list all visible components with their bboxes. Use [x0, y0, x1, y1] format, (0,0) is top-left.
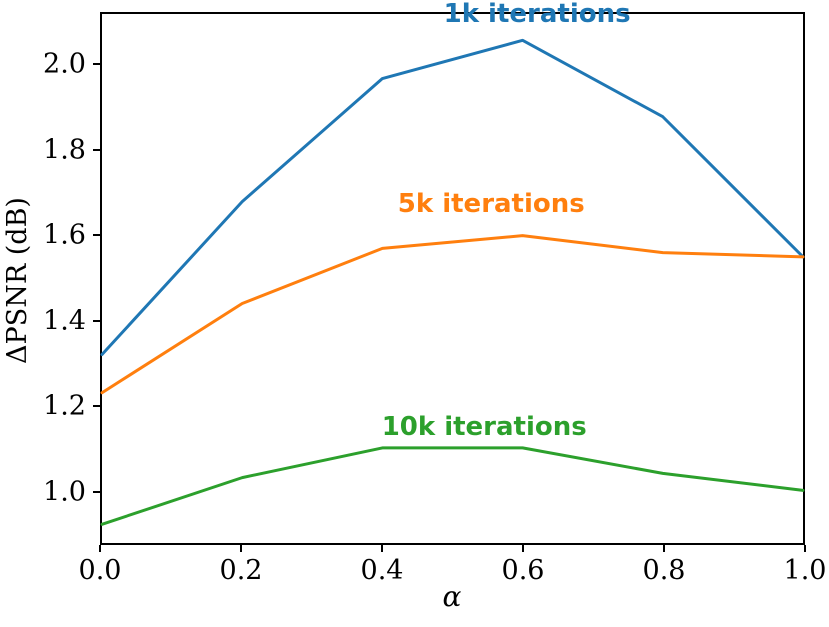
y-tick-label: 2.0 [43, 49, 86, 80]
y-tick-label: 1.4 [43, 305, 86, 336]
series-line [102, 236, 803, 393]
x-tick-mark [240, 545, 242, 552]
plot-area [100, 12, 805, 545]
x-tick-label: 0.4 [361, 555, 404, 586]
y-tick-label: 1.2 [43, 391, 86, 422]
series-annotation-label: 1k iterations [444, 0, 631, 29]
y-tick-mark [93, 405, 100, 407]
x-tick-label: 0.8 [643, 555, 686, 586]
x-axis-label: α [443, 580, 462, 613]
series-annotation-label: 5k iterations [398, 189, 585, 219]
chart-figure: ΔPSNR (dB) 1.01.21.41.61.82.0 0.00.20.40… [0, 0, 829, 627]
x-tick-label: 0.6 [502, 555, 545, 586]
x-tick-mark [804, 545, 806, 552]
y-axis-label: ΔPSNR (dB) [0, 0, 34, 560]
y-tick-mark [93, 320, 100, 322]
y-tick-label: 1.6 [43, 220, 86, 251]
x-tick-label: 0.0 [79, 555, 122, 586]
x-tick-label: 1.0 [784, 555, 827, 586]
x-tick-mark [99, 545, 101, 552]
y-tick-mark [93, 149, 100, 151]
y-axis-label-text: ΔPSNR (dB) [2, 197, 33, 364]
series-lines [102, 14, 803, 543]
y-tick-mark [93, 63, 100, 65]
series-annotation-label: 10k iterations [382, 412, 587, 442]
y-tick-mark [93, 234, 100, 236]
y-tick-label: 1.0 [43, 476, 86, 507]
x-tick-mark [663, 545, 665, 552]
x-tick-mark [522, 545, 524, 552]
y-tick-label: 1.8 [43, 134, 86, 165]
x-tick-label: 0.2 [220, 555, 263, 586]
series-line [102, 448, 803, 524]
x-tick-mark [381, 545, 383, 552]
y-tick-mark [93, 491, 100, 493]
